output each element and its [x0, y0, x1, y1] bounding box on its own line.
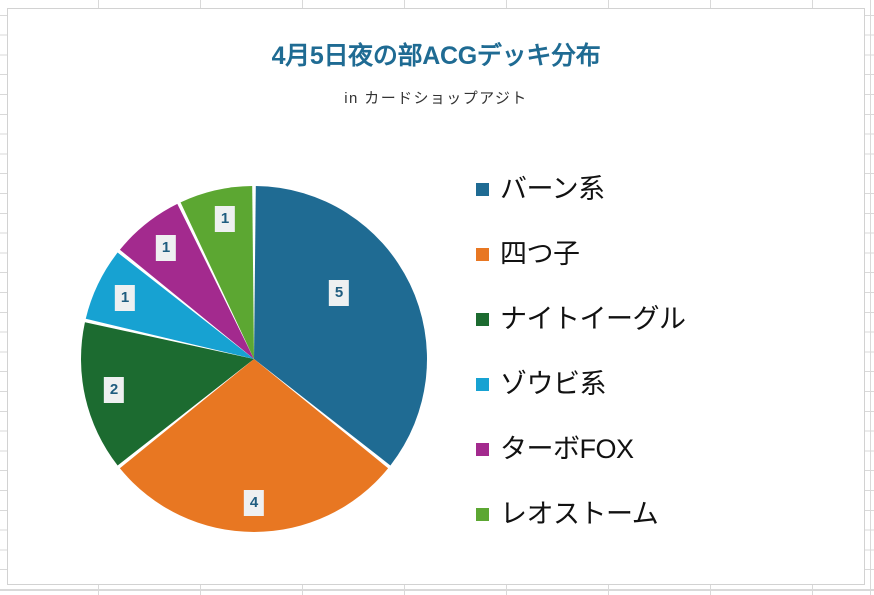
legend-swatch-icon [476, 248, 489, 261]
chart-subtitle: in カードショップアジト [8, 87, 864, 108]
legend-item[interactable]: ターボFOX [476, 417, 796, 482]
pie-svg [76, 181, 432, 537]
legend-swatch-icon [476, 443, 489, 456]
legend-swatch-icon [476, 313, 489, 326]
legend-item[interactable]: 四つ子 [476, 222, 796, 287]
legend-item-label: レオストーム [500, 501, 658, 528]
legend-item[interactable]: ゾウビ系 [476, 352, 796, 417]
legend-item-label: バーン系 [500, 176, 605, 203]
pie-data-label: 1 [215, 206, 235, 232]
legend-item-label: ゾウビ系 [500, 371, 606, 398]
legend-swatch-icon [476, 378, 489, 391]
pie-data-label: 5 [329, 280, 349, 306]
legend-item[interactable]: バーン系 [476, 157, 796, 222]
pie-plot-area[interactable]: 542111 [76, 181, 432, 537]
legend-item-label: ナイトイーグル [500, 306, 686, 333]
legend-item-label: 四つ子 [500, 241, 580, 268]
legend-item-label: ターボFOX [500, 436, 634, 463]
legend-swatch-icon [476, 508, 489, 521]
pie-data-label: 1 [115, 285, 135, 311]
pie-data-label: 4 [244, 490, 264, 516]
pie-data-label: 1 [156, 235, 176, 261]
legend-item[interactable]: レオストーム [476, 482, 796, 547]
pie-data-label: 2 [104, 377, 124, 403]
legend-item[interactable]: ナイトイーグル [476, 287, 796, 352]
chart-legend[interactable]: バーン系四つ子ナイトイーグルゾウビ系ターボFOXレオストーム [476, 157, 796, 547]
chart-object[interactable]: 4月5日夜の部ACGデッキ分布 in カードショップアジト 542111 バーン… [7, 8, 865, 585]
legend-swatch-icon [476, 183, 489, 196]
chart-title: 4月5日夜の部ACGデッキ分布 [8, 36, 864, 72]
